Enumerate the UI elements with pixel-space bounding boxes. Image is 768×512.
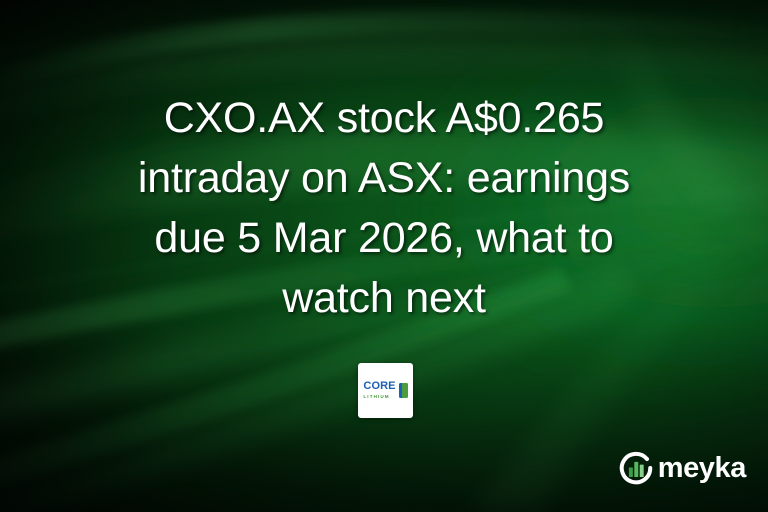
headline-line-3: due 5 Mar 2026, what to: [44, 208, 724, 268]
core-lithium-wordmark: CORE LITHIUM: [363, 381, 395, 400]
meyka-watermark: meyka: [617, 449, 746, 487]
headline-line-2: intraday on ASX: earnings: [44, 148, 724, 208]
core-brand-text: CORE: [363, 381, 395, 392]
core-lithium-bar-icon: [399, 383, 408, 398]
meyka-wordmark: meyka: [658, 453, 746, 483]
headline-line-4: watch next: [44, 268, 724, 328]
core-lithium-logo-card: CORE LITHIUM: [358, 363, 413, 418]
core-lithium-logo: CORE LITHIUM: [363, 381, 407, 400]
meyka-ring-bars-icon: [617, 449, 655, 487]
core-subtitle-text: LITHIUM: [363, 393, 395, 400]
headline-line-1: CXO.AX stock A$0.265: [44, 88, 724, 148]
social-share-card: CXO.AX stock A$0.265 intraday on ASX: ea…: [0, 0, 768, 512]
headline: CXO.AX stock A$0.265 intraday on ASX: ea…: [0, 88, 768, 328]
